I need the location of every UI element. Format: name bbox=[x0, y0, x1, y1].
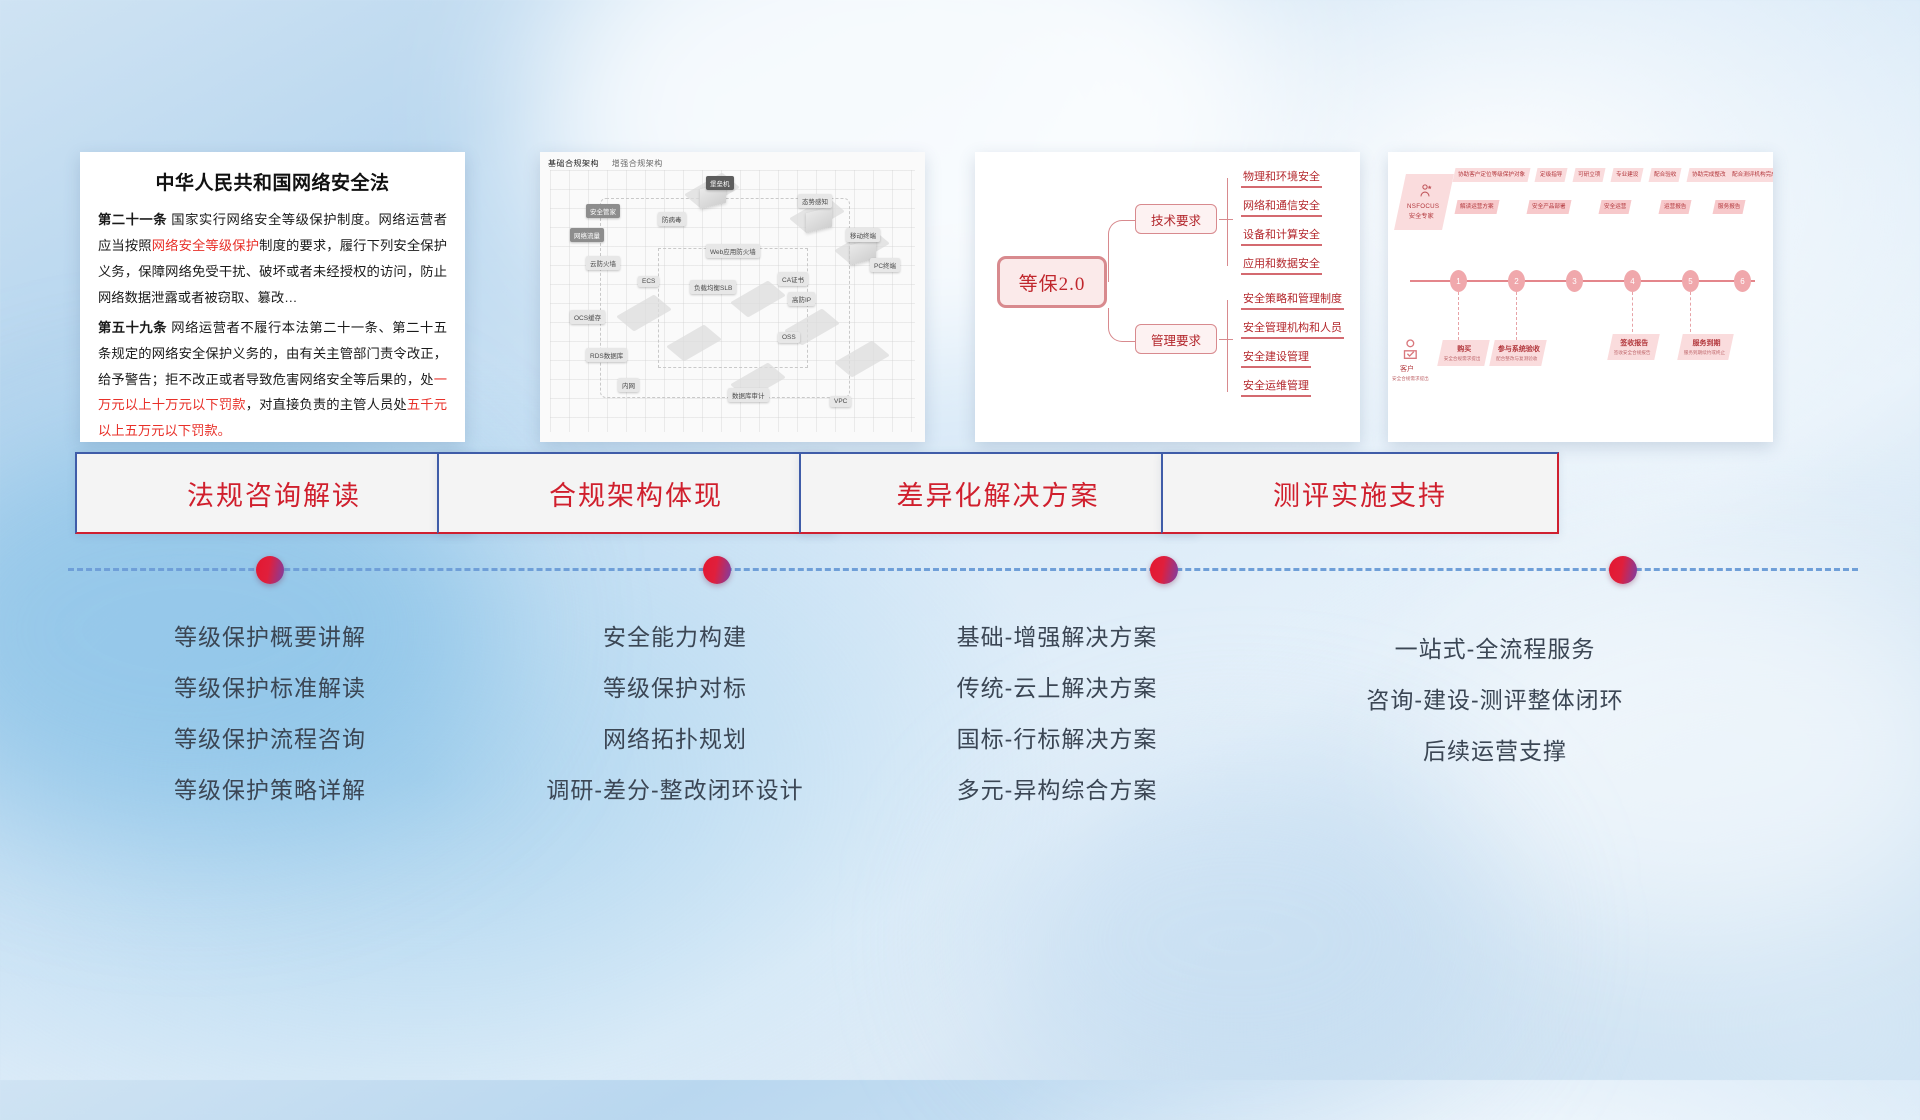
mindmap-spine bbox=[1227, 300, 1228, 392]
nsfocus-drop-line bbox=[1458, 292, 1459, 340]
nsfocus-stage-label: 解读运营方案 bbox=[1455, 200, 1500, 214]
mindmap: 等保2.0 技术要求 物理和环境安全 网络和通信安全 设备和计算安全 应用和数据… bbox=[975, 152, 1360, 442]
nsfocus-step: 6 bbox=[1734, 270, 1751, 292]
law-title: 中华人民共和国网络安全法 bbox=[98, 168, 447, 195]
nsfocus-stage-label: 运营报告 bbox=[1659, 200, 1692, 214]
tab-enhanced[interactable]: 增强合规架构 bbox=[612, 159, 663, 168]
nsfocus-top-tag: 配合验收 bbox=[1649, 168, 1682, 182]
diagram-node: 云防火墙 bbox=[586, 256, 620, 270]
timeline-dot-4[interactable] bbox=[1609, 556, 1637, 584]
bullet-column-1: 等级保护概要讲解 等级保护标准解读 等级保护流程咨询 等级保护策略详解 bbox=[55, 612, 485, 816]
diagram-node: 负载均衡SLB bbox=[690, 280, 736, 294]
expert-line-2: 安全专家 bbox=[1409, 212, 1434, 221]
nsfocus-step: 2 bbox=[1508, 270, 1525, 292]
mindmap-root: 等保2.0 bbox=[997, 256, 1107, 308]
diagram-node: 内网 bbox=[618, 378, 639, 392]
nsfocus-stage-label: 服务报告 bbox=[1713, 200, 1746, 214]
bullet-column-4: 一站式-全流程服务 咨询-建设-测评整体闭环 后续运营支撑 bbox=[1280, 612, 1710, 777]
bullet-column-3: 基础-增强解决方案 传统-云上解决方案 国标-行标解决方案 多元-异构综合方案 bbox=[842, 612, 1272, 816]
diagram-node: 网络流量 bbox=[570, 228, 604, 242]
label-text: 测评实施支持 bbox=[1273, 474, 1447, 513]
nsfocus-step: 1 bbox=[1450, 270, 1467, 292]
nsfocus-stage-label: 安全产品部署 bbox=[1527, 200, 1572, 214]
nsfocus-top-tag: 配合测评机构完成上级安全检查合规 bbox=[1727, 168, 1773, 182]
list-item: 一站式-全流程服务 bbox=[1280, 624, 1710, 675]
mindmap-leaf: 物理和环境安全 bbox=[1241, 168, 1322, 188]
nsfocus-bottom-item: 购买安全合规需求提出 bbox=[1437, 340, 1489, 366]
list-item: 国标-行标解决方案 bbox=[842, 714, 1272, 765]
tab-basic[interactable]: 基础合规架构 bbox=[548, 159, 599, 168]
label-box-4[interactable]: 测评实施支持 bbox=[1161, 452, 1559, 534]
list-item: 调研-差分-整改闭环设计 bbox=[460, 765, 890, 816]
timeline-dot-2[interactable] bbox=[703, 556, 731, 584]
nsfocus-expert-badge: NSFOCUS 安全专家 bbox=[1394, 174, 1454, 230]
nsfocus-step: 4 bbox=[1624, 270, 1641, 292]
nsfocus-bottom-item: 签收报告签收安全合规报告 bbox=[1607, 334, 1659, 360]
law-body: 中华人民共和国网络安全法 第二十一条 国家实行网络安全等级保护制度。网络运营者应… bbox=[80, 152, 465, 442]
expert-line-1: NSFOCUS bbox=[1407, 202, 1439, 211]
label-text: 合规架构体现 bbox=[549, 474, 723, 513]
nsfocus-top-tag: 协助完成整改 bbox=[1687, 168, 1732, 182]
customer-title: 客户 bbox=[1400, 364, 1414, 374]
diagram-node: 数据库审计 bbox=[728, 388, 769, 402]
mindmap-leaf: 安全建设管理 bbox=[1241, 348, 1311, 368]
label-text: 差异化解决方案 bbox=[897, 474, 1100, 513]
diagram-node: Web应用防火墙 bbox=[706, 244, 760, 258]
diagram-node: 安全管家 bbox=[586, 204, 620, 218]
list-item: 等级保护对标 bbox=[460, 663, 890, 714]
diagram-node: 堡垒机 bbox=[706, 176, 734, 190]
customer-sub: 安全合规需求提出 bbox=[1392, 376, 1429, 382]
mindmap-spine bbox=[1227, 178, 1228, 266]
list-item: 安全能力构建 bbox=[460, 612, 890, 663]
mindmap-connector bbox=[1108, 220, 1136, 282]
card-law[interactable]: 中华人民共和国网络安全法 第二十一条 国家实行网络安全等级保护制度。网络运营者应… bbox=[80, 152, 465, 442]
page-root: 中华人民共和国网络安全法 第二十一条 国家实行网络安全等级保护制度。网络运营者应… bbox=[0, 0, 1920, 1080]
mindmap-leaf: 应用和数据安全 bbox=[1241, 255, 1322, 275]
mindmap-leaf: 安全策略和管理制度 bbox=[1241, 290, 1344, 310]
law-run-highlight: 网络安全等级保护 bbox=[152, 238, 259, 253]
architecture-diagram: 基础合规架构 增强合规架构 堡垒机 安全管家 网络流量 bbox=[540, 152, 925, 442]
list-item: 基础-增强解决方案 bbox=[842, 612, 1272, 663]
mindmap-leaf: 设备和计算安全 bbox=[1241, 226, 1322, 246]
list-item: 等级保护策略详解 bbox=[55, 765, 485, 816]
nsfocus-top-tag: 可研立项 bbox=[1573, 168, 1606, 182]
nsfocus-drop-line bbox=[1632, 292, 1633, 332]
bullet-column-2: 安全能力构建 等级保护对标 网络拓扑规划 调研-差分-整改闭环设计 bbox=[460, 612, 890, 816]
diagram-node: VPC bbox=[830, 396, 851, 407]
mindmap-branch-mgmt: 管理要求 bbox=[1135, 324, 1217, 354]
mindmap-branch-tech: 技术要求 bbox=[1135, 204, 1217, 234]
timeline-dot-1[interactable] bbox=[256, 556, 284, 584]
list-item: 等级保护流程咨询 bbox=[55, 714, 485, 765]
diagram-node: PC终端 bbox=[870, 258, 900, 272]
nsfocus-top-tag: 专业建设 bbox=[1611, 168, 1644, 182]
diagram-node: 态势感知 bbox=[798, 194, 832, 208]
law-paragraph-1: 第二十一条 国家实行网络安全等级保护制度。网络运营者应当按照网络安全等级保护制度… bbox=[98, 207, 447, 311]
timeline-rail bbox=[68, 568, 1858, 571]
bullet-columns: 等级保护概要讲解 等级保护标准解读 等级保护流程咨询 等级保护策略详解 安全能力… bbox=[0, 612, 1920, 862]
law-paragraph-2: 第五十九条 网络运营者不履行本法第二十一条、第二十五条规定的网络安全保护义务的，… bbox=[98, 315, 447, 442]
list-item: 网络拓扑规划 bbox=[460, 714, 890, 765]
mindmap-connector bbox=[1108, 308, 1136, 342]
nsfocus-timeline: NSFOCUS 安全专家 协助客户定位等级保护对象 定级指导 可研立项 专业建设… bbox=[1388, 152, 1773, 442]
card-nsfocus[interactable]: NSFOCUS 安全专家 协助客户定位等级保护对象 定级指导 可研立项 专业建设… bbox=[1388, 152, 1773, 442]
expert-person-icon bbox=[1418, 183, 1434, 199]
card-architecture[interactable]: 基础合规架构 增强合规架构 堡垒机 安全管家 网络流量 bbox=[540, 152, 925, 442]
nsfocus-step: 3 bbox=[1566, 270, 1583, 292]
mindmap-leaf: 安全运维管理 bbox=[1241, 377, 1311, 397]
diagram-node: 防病毒 bbox=[658, 212, 686, 226]
mindmap-hook bbox=[1219, 339, 1233, 340]
diagram-node: RDS数据库 bbox=[586, 348, 627, 362]
label-box-1[interactable]: 法规咨询解读 bbox=[75, 452, 473, 534]
diagram-node: ECS bbox=[638, 276, 659, 287]
nsfocus-drop-line bbox=[1690, 292, 1691, 332]
nsfocus-bottom-item: 服务到期服务到期续约或终止 bbox=[1677, 334, 1734, 360]
label-text: 法规咨询解读 bbox=[187, 474, 361, 513]
nsfocus-stage-label: 安全运营 bbox=[1599, 200, 1632, 214]
list-item: 等级保护概要讲解 bbox=[55, 612, 485, 663]
nsfocus-step: 5 bbox=[1682, 270, 1699, 292]
customer-person-icon bbox=[1402, 338, 1422, 367]
nsfocus-top-tag: 协助客户定位等级保护对象 bbox=[1453, 168, 1531, 182]
list-item: 传统-云上解决方案 bbox=[842, 663, 1272, 714]
nsfocus-drop-line bbox=[1516, 292, 1517, 340]
diagram-node: CA证书 bbox=[778, 272, 808, 286]
law-article-1: 第二十一条 bbox=[98, 212, 167, 227]
diagram-node: OSS bbox=[778, 332, 800, 343]
list-item: 咨询-建设-测评整体闭环 bbox=[1280, 675, 1710, 726]
list-item: 等级保护标准解读 bbox=[55, 663, 485, 714]
card-row: 中华人民共和国网络安全法 第二十一条 国家实行网络安全等级保护制度。网络运营者应… bbox=[0, 0, 1920, 440]
card-mindmap[interactable]: 等保2.0 技术要求 物理和环境安全 网络和通信安全 设备和计算安全 应用和数据… bbox=[975, 152, 1360, 442]
label-row: 法规咨询解读 合规架构体现 差异化解决方案 测评实施支持 bbox=[0, 452, 1920, 542]
timeline-dot-3[interactable] bbox=[1150, 556, 1178, 584]
diagram-node: OCS缓存 bbox=[570, 310, 605, 324]
diagram-node: 移动终端 bbox=[846, 228, 880, 242]
list-item: 多元-异构综合方案 bbox=[842, 765, 1272, 816]
nsfocus-bottom-item: 参与系统验收配合整改与复测验收 bbox=[1489, 340, 1547, 366]
mindmap-hook bbox=[1219, 219, 1233, 220]
timeline bbox=[0, 556, 1920, 596]
mindmap-leaf: 安全管理机构和人员 bbox=[1241, 319, 1344, 339]
label-box-3[interactable]: 差异化解决方案 bbox=[799, 452, 1197, 534]
diagram-node: 高防IP bbox=[788, 292, 815, 306]
label-box-2[interactable]: 合规架构体现 bbox=[437, 452, 835, 534]
law-article-2: 第五十九条 bbox=[98, 320, 167, 335]
law-run: ，对直接负责的主管人员处 bbox=[246, 397, 407, 412]
mindmap-leaf: 网络和通信安全 bbox=[1241, 197, 1322, 217]
nsfocus-top-tag: 定级指导 bbox=[1535, 168, 1568, 182]
list-item: 后续运营支撑 bbox=[1280, 726, 1710, 777]
diagram-tabs[interactable]: 基础合规架构 增强合规架构 bbox=[548, 158, 673, 169]
